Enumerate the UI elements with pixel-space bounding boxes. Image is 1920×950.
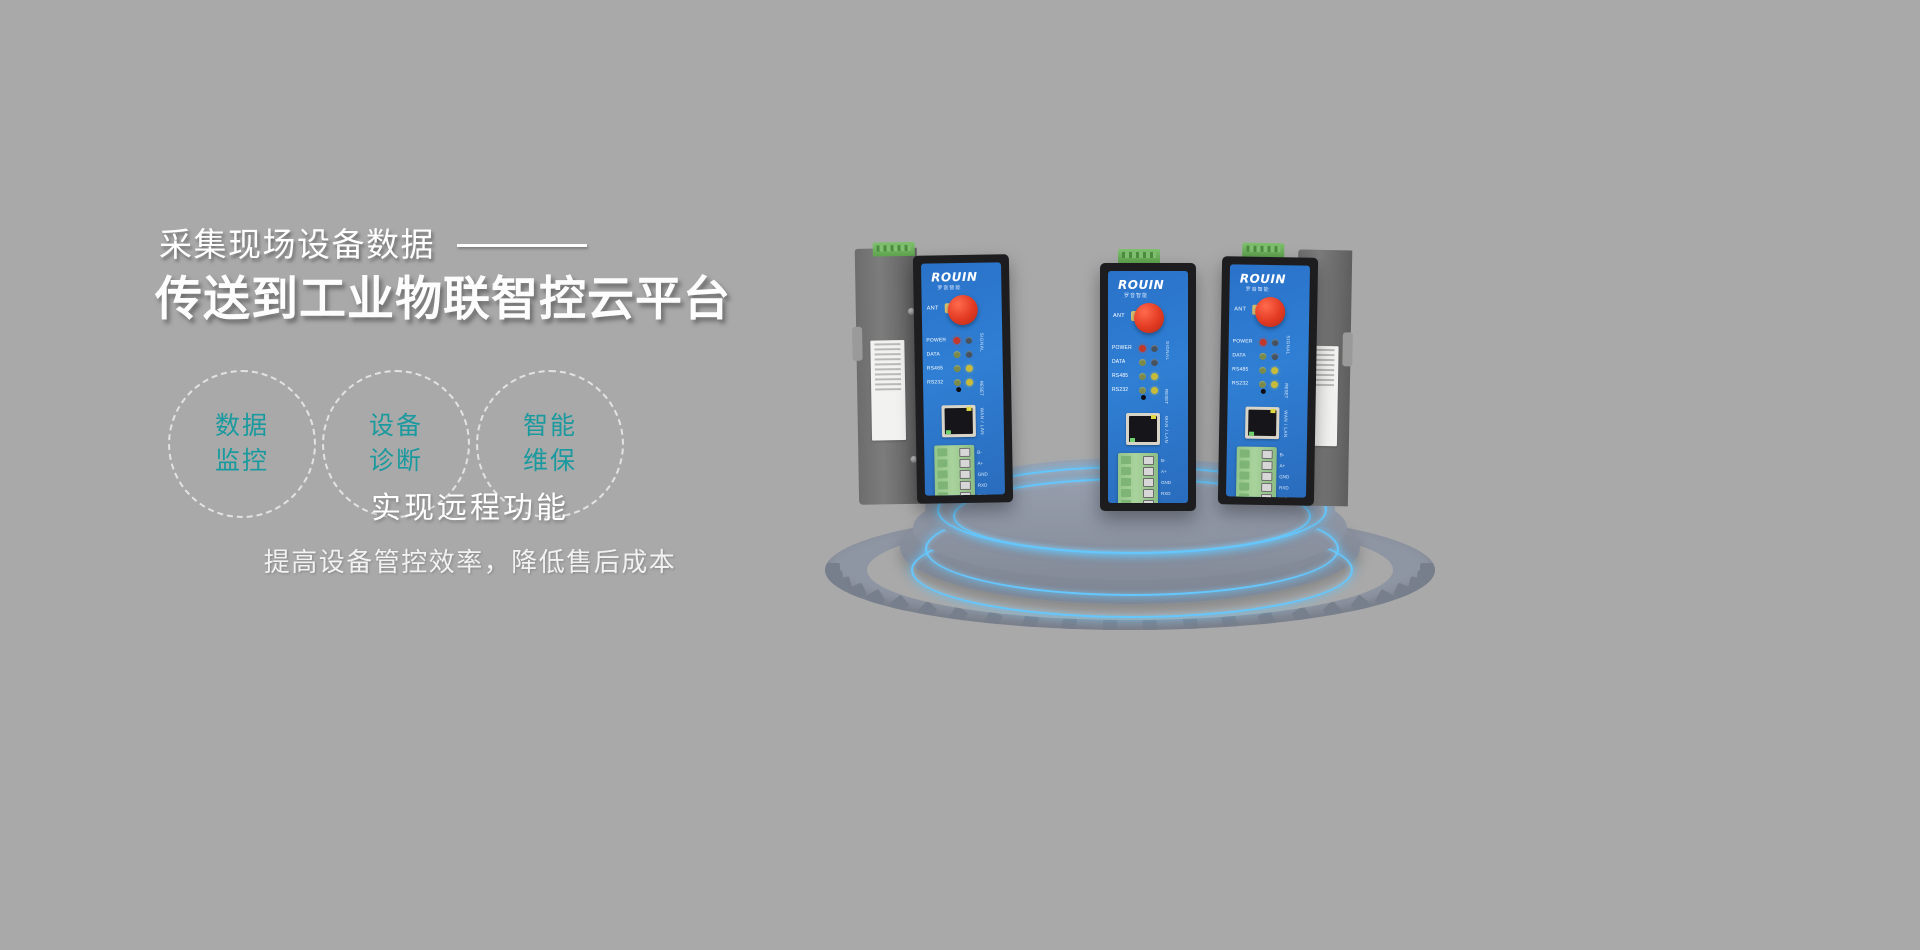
terminal-screw — [1143, 489, 1154, 498]
gear-tooth — [1351, 595, 1372, 616]
sticker-text-line — [875, 383, 901, 385]
gateway-device-3[interactable]: ROUIN 罗音智能 ANT POWER DATA RS485 RS232 SI… — [1218, 256, 1318, 506]
led-indicator — [966, 350, 973, 357]
led-row: DATA — [926, 346, 998, 361]
terminal-slot — [1239, 483, 1249, 491]
terminal-slot — [1239, 461, 1249, 469]
sticker-text-line — [874, 348, 900, 350]
feature-label-line2: 维保 — [523, 444, 577, 479]
led-label: DATA — [927, 351, 949, 357]
led-label: RS232 — [1112, 387, 1134, 393]
led-indicator — [1271, 381, 1278, 388]
rj45-link-led — [946, 430, 951, 434]
rj45-activity-led — [966, 407, 971, 411]
left-text-panel: 采集现场设备数据 传送到工业物联智控云平台 数据 监控 设备 诊断 智能 维保 … — [150, 225, 870, 705]
terminal-screw — [1262, 450, 1273, 459]
lan-port-label: WAN / LAN — [1164, 416, 1169, 443]
brand-sub-logo: 罗音智能 — [1124, 292, 1148, 299]
led-indicator — [1272, 339, 1279, 346]
led-indicator — [954, 351, 961, 358]
terminal-label: RXD — [1161, 488, 1171, 499]
led-indicator — [1259, 380, 1266, 387]
led-indicator — [1151, 373, 1158, 380]
led-label: POWER — [1112, 345, 1134, 351]
terminal-label: B- — [977, 447, 987, 458]
led-indicator — [1151, 345, 1158, 352]
antenna-label: ANT — [1113, 313, 1125, 319]
terminal-screw — [1143, 500, 1154, 503]
led-indicator — [1151, 359, 1158, 366]
terminal-slot — [1121, 489, 1131, 497]
gear-tooth — [1374, 589, 1395, 609]
led-indicator — [1271, 353, 1278, 360]
screw-terminal-block — [1118, 453, 1158, 503]
reset-button[interactable] — [1261, 389, 1266, 394]
terminal-label: B- — [1280, 449, 1290, 460]
led-label: POWER — [926, 337, 948, 343]
feature-label-line1: 设备 — [369, 409, 423, 444]
led-row: POWER — [1233, 334, 1305, 349]
terminal-screw — [1143, 478, 1154, 487]
screw-terminal-block — [1236, 446, 1277, 497]
headline-eyebrow: 采集现场设备数据 — [159, 225, 435, 265]
sticker-text-line — [875, 353, 901, 355]
terminal-screw — [1261, 483, 1272, 492]
product-scene: ROUIN 罗音智能 ANT POWER DATA RS485 RS232 SI… — [800, 195, 1500, 665]
terminal-slot — [937, 459, 947, 467]
led-row: DATA — [1112, 355, 1184, 369]
terminal-slot — [1239, 472, 1249, 480]
terminal-slot — [937, 448, 947, 456]
led-indicator-group: POWER DATA RS485 RS232 — [1232, 334, 1305, 391]
reset-button[interactable] — [956, 387, 961, 392]
product-banner: 采集现场设备数据 传送到工业物联智控云平台 数据 监控 设备 诊断 智能 维保 … — [0, 0, 1920, 950]
terminal-label: GND — [1279, 471, 1289, 482]
gear-tooth — [825, 563, 840, 577]
terminal-label: GND — [978, 469, 988, 480]
terminal-screw — [960, 470, 971, 479]
terminal-screw — [1143, 467, 1154, 476]
device-housing: ROUIN 罗音智能 ANT POWER DATA RS485 RS232 SI… — [1218, 256, 1318, 506]
screw-terminal-block — [934, 445, 975, 496]
led-label: RS485 — [1112, 373, 1134, 379]
led-indicator — [966, 364, 973, 371]
led-label: RS232 — [1232, 380, 1254, 386]
brand-sub-logo: 罗音智能 — [1246, 286, 1270, 293]
led-row: DATA — [1232, 348, 1304, 363]
din-rail-clip — [852, 327, 863, 361]
rj45-link-led — [1130, 438, 1135, 442]
gateway-device-2[interactable]: ROUIN 罗音智能 ANT POWER DATA RS485 RS232 SI… — [1100, 263, 1196, 511]
terminal-slot — [938, 481, 948, 489]
reset-label: RESET — [979, 381, 984, 396]
led-indicator — [1139, 345, 1146, 352]
antenna-label: ANT — [927, 305, 939, 311]
led-row: RS232 — [927, 374, 999, 389]
led-indicator — [1139, 373, 1146, 380]
gear-tooth — [888, 595, 909, 616]
led-row: RS485 — [1232, 362, 1304, 377]
signal-label: SIGNAL — [1165, 341, 1170, 361]
sticker-text-line — [875, 363, 901, 365]
terminal-screw — [960, 481, 971, 490]
device-housing: ROUIN 罗音智能 ANT POWER DATA RS485 RS232 SI… — [913, 254, 1013, 504]
terminal-label-group: B- A+ GND RXD TXD — [1279, 449, 1290, 497]
led-label: RS485 — [1232, 366, 1254, 372]
device-front-panel: ROUIN 罗音智能 ANT POWER DATA RS485 RS232 SI… — [921, 262, 1005, 495]
led-indicator — [953, 337, 960, 344]
terminal-label: TXD — [978, 491, 988, 496]
terminal-slot — [1121, 478, 1131, 486]
led-label: DATA — [1232, 352, 1254, 358]
headline-divider-rule — [457, 244, 587, 247]
led-row: POWER — [1112, 341, 1184, 355]
terminal-screw — [959, 448, 970, 457]
led-indicator — [954, 365, 961, 372]
sticker-text-line — [875, 368, 901, 370]
terminal-label: RXD — [978, 480, 988, 491]
reset-label: RESET — [1164, 389, 1169, 404]
din-rail-clip — [1342, 332, 1353, 366]
terminal-label: TXD — [1161, 499, 1171, 503]
top-terminal-block — [1242, 243, 1284, 258]
led-indicator — [1271, 367, 1278, 374]
terminal-label: TXD — [1279, 493, 1289, 497]
rj45-activity-led — [1270, 409, 1275, 413]
sticker-text-line — [875, 388, 901, 390]
antenna-connector — [948, 295, 979, 326]
reset-button[interactable] — [1141, 395, 1146, 400]
sticker-text-line — [875, 358, 901, 360]
rj45-ethernet-port — [941, 405, 976, 438]
signal-label: SIGNAL — [1285, 335, 1290, 355]
terminal-label: A+ — [1279, 460, 1289, 471]
terminal-slot — [938, 492, 948, 495]
led-label: RS232 — [927, 379, 949, 385]
gear-tooth — [865, 589, 886, 609]
terminal-screw — [1143, 456, 1154, 465]
led-row: RS232 — [1112, 383, 1184, 397]
terminal-label-group: B- A+ GND RXD TXD — [1161, 455, 1171, 503]
brand-logo: ROUIN — [1240, 271, 1286, 286]
led-indicator — [965, 336, 972, 343]
antenna-connector — [1134, 303, 1164, 333]
led-indicator — [1260, 338, 1267, 345]
led-row: POWER — [926, 332, 998, 347]
terminal-label: RXD — [1279, 482, 1289, 493]
terminal-label-group: B- A+ GND RXD TXD — [977, 447, 988, 496]
terminal-label: B- — [1161, 455, 1171, 466]
led-row: RS485 — [927, 360, 999, 375]
sticker-text-line — [874, 343, 900, 345]
terminal-slot — [1121, 467, 1131, 475]
led-label: RS485 — [927, 365, 949, 371]
device-side-panel — [855, 248, 921, 505]
headline-main-title: 传送到工业物联智控云平台 — [155, 271, 731, 327]
terminal-label: A+ — [977, 458, 987, 469]
signal-label: SIGNAL — [979, 333, 984, 353]
antenna-connector — [1255, 297, 1286, 328]
terminal-screw — [1261, 461, 1272, 470]
gear-tooth — [1323, 600, 1344, 621]
terminal-slot — [1239, 494, 1249, 498]
sticker-text-line — [875, 378, 901, 380]
device-front-panel: ROUIN 罗音智能 ANT POWER DATA RS485 RS232 SI… — [1108, 271, 1188, 503]
terminal-slot — [1240, 450, 1250, 458]
led-row: RS232 — [1232, 376, 1304, 391]
gateway-device-1[interactable]: ROUIN 罗音智能 ANT POWER DATA RS485 RS232 SI… — [913, 254, 1013, 504]
feature-label-line2: 诊断 — [369, 444, 423, 479]
headline-eyebrow-row: 采集现场设备数据 — [159, 225, 587, 265]
device-housing: ROUIN 罗音智能 ANT POWER DATA RS485 RS232 SI… — [1100, 263, 1196, 511]
top-terminal-block — [1118, 249, 1160, 263]
feature-label-line1: 数据 — [215, 409, 269, 444]
led-row: RS485 — [1112, 369, 1184, 383]
led-indicator — [1139, 387, 1146, 394]
brand-logo: ROUIN — [931, 270, 977, 285]
led-indicator — [1259, 366, 1266, 373]
rj45-activity-led — [1151, 415, 1156, 419]
led-indicator-group: POWER DATA RS485 RS232 — [1112, 341, 1184, 397]
terminal-screw — [959, 459, 970, 468]
top-terminal-block — [873, 242, 915, 257]
rj45-ethernet-port — [1126, 413, 1160, 445]
led-indicator — [1259, 352, 1266, 359]
terminal-slot — [938, 470, 948, 478]
terminal-slot — [1121, 500, 1131, 503]
sticker-text-line — [875, 373, 901, 375]
led-indicator-group: POWER DATA RS485 RS232 — [926, 332, 999, 389]
led-label: POWER — [1233, 338, 1255, 344]
brand-logo: ROUIN — [1118, 278, 1164, 292]
led-indicator — [1139, 359, 1146, 366]
brand-sub-logo: 罗音智能 — [937, 284, 961, 291]
terminal-label: A+ — [1161, 466, 1171, 477]
led-indicator — [966, 378, 973, 385]
feature-label-line2: 监控 — [215, 444, 269, 479]
lan-port-label: WAN / LAN — [980, 408, 985, 435]
feature-label-line1: 智能 — [523, 409, 577, 444]
lan-port-label: WAN / LAN — [1283, 410, 1288, 437]
terminal-slot — [1121, 456, 1131, 464]
terminal-screw — [1261, 494, 1272, 498]
device-sticker — [870, 340, 906, 441]
rj45-link-led — [1249, 432, 1254, 436]
terminal-screw — [1261, 472, 1272, 481]
led-indicator — [954, 379, 961, 386]
footer-sub-text: 提高设备管控效率，降低售后成本 — [150, 545, 790, 579]
device-front-panel: ROUIN 罗音智能 ANT POWER DATA RS485 RS232 SI… — [1226, 264, 1310, 497]
led-label: DATA — [1112, 359, 1134, 365]
terminal-screw — [960, 492, 971, 496]
terminal-label: GND — [1161, 477, 1171, 488]
rj45-ethernet-port — [1245, 407, 1280, 440]
led-indicator — [1151, 387, 1158, 394]
antenna-label: ANT — [1234, 306, 1246, 312]
reset-label: RESET — [1284, 383, 1289, 398]
footer-sub-heading: 实现远程功能 — [150, 490, 790, 528]
